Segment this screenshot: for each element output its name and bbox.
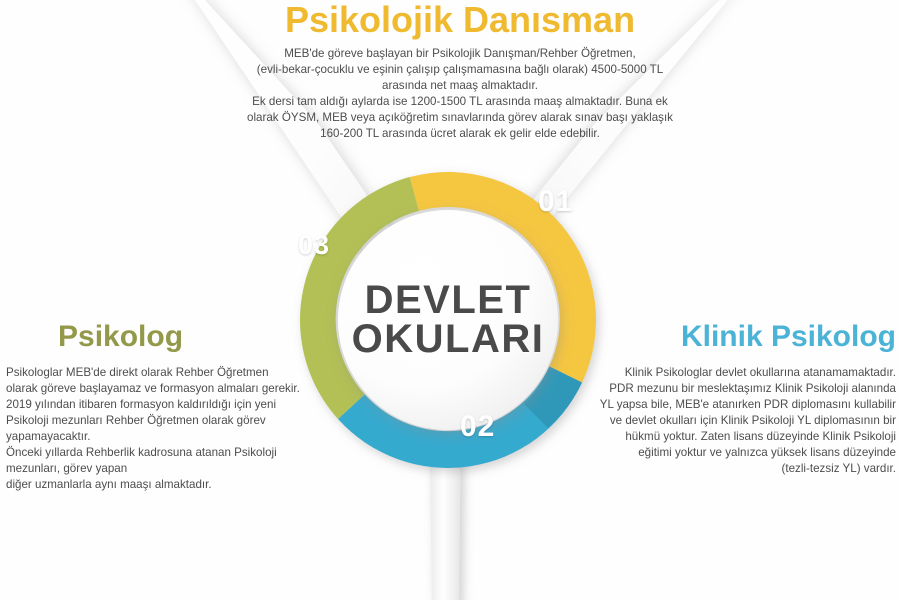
text-line: (tezli-tezsiz YL) vardır. <box>586 461 896 477</box>
text-line: MEB'de göreve başlayan bir Psikolojik Da… <box>184 46 736 62</box>
text-line: 160-200 TL arasında ücret alarak ek geli… <box>184 126 736 142</box>
section-top-title: Psikolojik Danısman <box>180 2 740 38</box>
text-line: PDR mezunu bir meslektaşımız Klinik Psik… <box>586 381 896 397</box>
text-line: (evli-bekar-çocuklu ve eşinin çalışıp ça… <box>184 62 736 78</box>
text-line: Psikoloji mezunları Rehber Öğretmen olar… <box>6 413 316 445</box>
section-right-body: Klinik Psikologlar devlet okullarına ata… <box>586 365 896 477</box>
text-line: olarak göreve başlayamaz ve formasyon al… <box>6 381 316 397</box>
text-line: YL yapsa bile, MEB'e atanırken PDR diplo… <box>586 397 896 413</box>
text-line: ve devlet okulları için Klinik Psikoloji… <box>586 413 896 429</box>
badge-03[interactable]: 03 <box>298 230 330 261</box>
section-right: Klinik Psikolog Klinik Psikologlar devle… <box>586 322 896 477</box>
badge-02[interactable]: 02 <box>460 410 495 444</box>
text-line: eğitimi yoktur ve yalnızca yüksek lisans… <box>586 445 896 461</box>
text-line: hükmü yoktur. Zaten lisans düzeyinde Kli… <box>586 429 896 445</box>
section-top-body: MEB'de göreve başlayan bir Psikolojik Da… <box>180 46 740 142</box>
text-line: arasında net maaş almaktadır. <box>184 78 736 94</box>
section-left-title: Psikolog <box>58 322 316 352</box>
section-top: Psikolojik Danısman MEB'de göreve başlay… <box>180 2 740 142</box>
infographic-canvas: DEVLET OKULARI 01 02 03 Psikolojik Danıs… <box>0 0 900 600</box>
center-disk <box>338 210 558 430</box>
section-left-body: Psikologlar MEB'de direkt olarak Rehber … <box>6 365 316 493</box>
section-right-title: Klinik Psikolog <box>586 322 896 352</box>
text-line: Önceki yıllarda Rehberlik kadrosuna atan… <box>6 445 316 477</box>
badge-01[interactable]: 01 <box>538 185 573 219</box>
text-line: Psikologlar MEB'de direkt olarak Rehber … <box>6 365 316 381</box>
text-line: Klinik Psikologlar devlet okullarına ata… <box>586 365 896 381</box>
section-left: Psikolog Psikologlar MEB'de direkt olara… <box>6 322 316 493</box>
text-line: diğer uzmanlarla aynı maaşı almaktadır. <box>6 477 316 493</box>
text-line: 2019 yılından itibaren formasyon kaldırı… <box>6 397 316 413</box>
text-line: olarak ÖYSM, MEB veya açıköğretim sınavl… <box>184 110 736 126</box>
text-line: Ek dersi tam aldığı aylarda ise 1200-150… <box>184 94 736 110</box>
